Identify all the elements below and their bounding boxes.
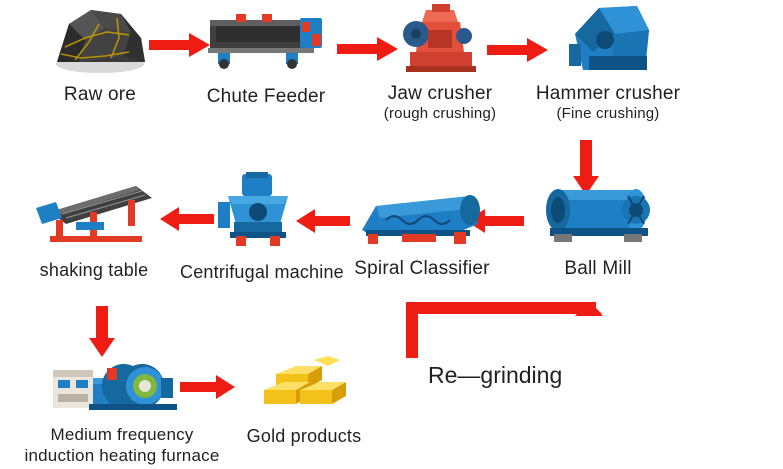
centrifugal-machine-icon [212,172,304,248]
shaking-table-icon [32,178,156,244]
regrinding-label: Re—grinding [428,362,562,389]
node-raw-ore: Raw ore [40,2,160,106]
node-label-shaking-table: shaking table [24,260,164,281]
node-sublabel-induction-furnace: induction heating furnace [22,445,222,466]
node-gold-products: Gold products [236,348,372,447]
induction-heating-furnace-icon [49,348,195,414]
spiral-classifier-icon [358,186,486,246]
node-label-hammer-crusher: Hammer crusher (Fine crushing) [528,83,688,123]
arrow-regrinding-loop [406,302,606,363]
node-ball-mill: Ball Mill [528,178,668,280]
node-spiral-classifier: Spiral Classifier [350,186,494,280]
node-label-ball-mill: Ball Mill [528,258,668,280]
node-shaking-table: shaking table [24,178,164,281]
node-label-spiral-classifier: Spiral Classifier [350,258,494,280]
node-sublabel-hammer-crusher: (Fine crushing) [528,105,688,123]
node-label-gold-products: Gold products [236,426,372,447]
node-induction-furnace: Medium frequency induction heating furna… [22,348,222,467]
raw-ore-pile-icon [45,2,155,74]
node-jaw-crusher: Jaw crusher (rough crushing) [380,0,500,123]
gold-bars-icon [252,348,356,414]
node-label-jaw-crusher: Jaw crusher (rough crushing) [380,83,500,123]
node-hammer-crusher: Hammer crusher (Fine crushing) [528,0,688,123]
node-label-induction-furnace: Medium frequency induction heating furna… [22,424,222,467]
arrow-furnace-to-gold [180,374,236,405]
process-flow-diagram: Raw ore [0,0,783,469]
node-label-centrifugal-machine: Centrifugal machine [180,262,336,283]
node-label-raw-ore: Raw ore [40,84,160,106]
chute-feeder-icon [202,4,330,72]
node-chute-feeder: Chute Feeder [196,4,336,108]
node-sublabel-jaw-crusher: (rough crushing) [380,105,500,123]
node-label-chute-feeder: Chute Feeder [196,86,336,108]
jaw-crusher-icon [392,0,488,74]
ball-mill-icon [532,178,664,246]
arrow-centrifugal-to-shaking [160,206,214,237]
hammer-crusher-icon [553,0,663,74]
